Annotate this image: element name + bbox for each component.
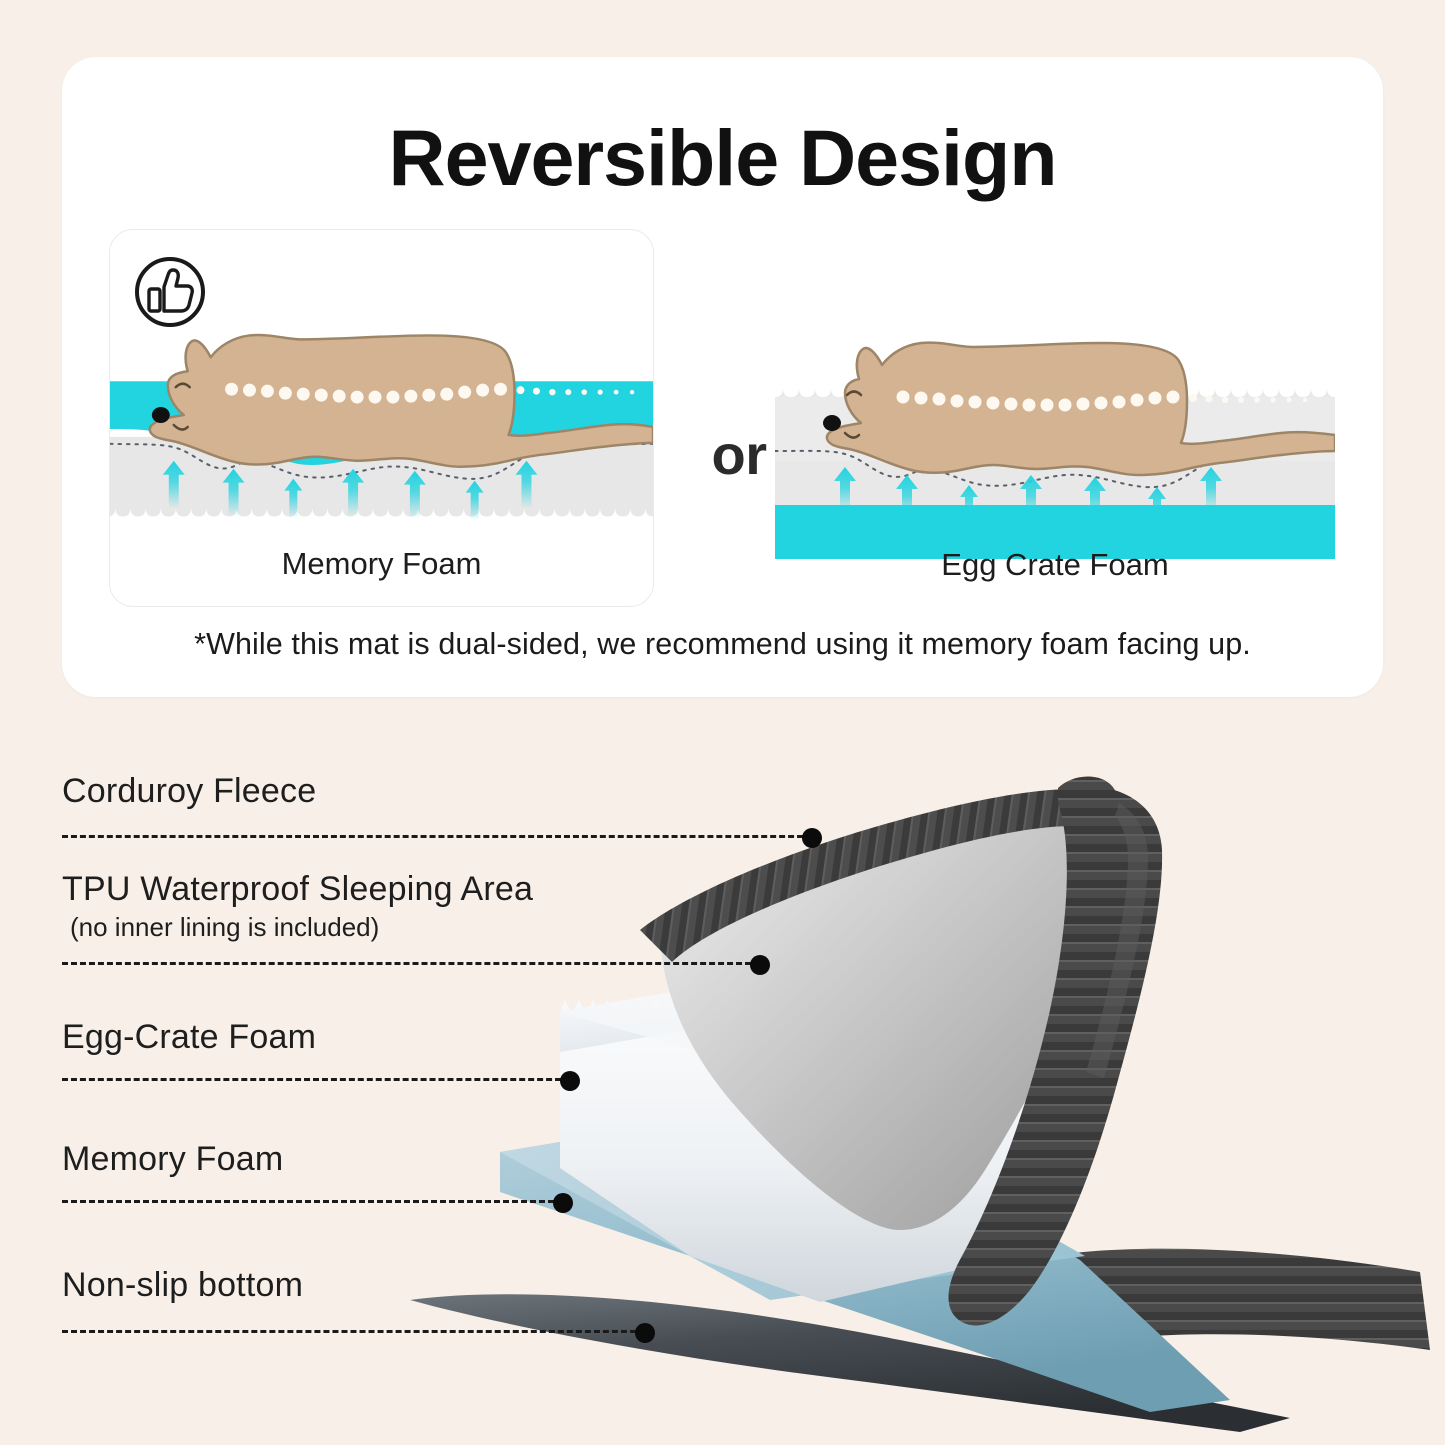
leader-dot <box>750 955 770 975</box>
corduroy-fleece-top-edge <box>640 789 1098 962</box>
leader-line-egg-crate-foam <box>62 1078 570 1081</box>
callout-label: Memory Foam <box>62 1140 283 1179</box>
exploded-mat-illustration <box>0 700 1445 1445</box>
callout-label: Corduroy Fleece <box>62 772 316 811</box>
infographic-root: Reversible Design <box>0 0 1445 1445</box>
egg-crate-serrated-top <box>560 958 860 1052</box>
panel-caption-egg-crate-foam: Egg Crate Foam <box>775 547 1335 583</box>
callout-label: Egg-Crate Foam <box>62 1018 316 1057</box>
tpu-waterproof-sleeping-area <box>660 807 1095 1230</box>
panel-caption-memory-foam: Memory Foam <box>110 546 653 582</box>
callout-memory-foam: Memory Foam <box>62 1140 283 1179</box>
leader-line-memory-foam <box>62 1200 563 1203</box>
egg-crate-foam-layer <box>560 958 1068 1302</box>
memory-foam-layer <box>500 1100 1230 1412</box>
panel-egg-crate-foam: Egg Crate Foam <box>775 229 1335 607</box>
egg-crate-top-face <box>560 958 985 1052</box>
callout-label: TPU Waterproof Sleeping Area <box>62 870 533 909</box>
non-slip-bottom-layer <box>410 1294 1290 1432</box>
fleece-highlight <box>1086 796 1148 1078</box>
leader-line-corduroy-fleece <box>62 835 812 838</box>
reversible-design-card: Reversible Design <box>62 57 1383 697</box>
memory-foam-top-face <box>500 1100 1085 1300</box>
leader-dot <box>802 828 822 848</box>
dog-nose <box>823 415 841 431</box>
callout-tpu-waterproof: TPU Waterproof Sleeping Area (no inner l… <box>62 870 533 943</box>
leader-line-non-slip-bottom <box>62 1330 645 1333</box>
page-title: Reversible Design <box>62 112 1383 204</box>
footnote-text: *While this mat is dual-sided, we recomm… <box>62 627 1383 662</box>
dog-nose <box>152 407 170 423</box>
thumbs-up-icon <box>133 255 207 329</box>
corduroy-fleece-back-panel <box>984 1249 1430 1352</box>
callout-sublabel: (no inner lining is included) <box>62 912 533 943</box>
fleece-corner-nub <box>1058 776 1118 826</box>
leader-line-tpu-waterproof <box>62 962 760 965</box>
panel-memory-foam: Memory Foam <box>109 229 654 607</box>
leader-dot <box>553 1193 573 1213</box>
corduroy-fleece-rolled-edge <box>949 786 1163 1326</box>
callout-corduroy-fleece: Corduroy Fleece <box>62 772 316 811</box>
callout-label: Non-slip bottom <box>62 1266 303 1305</box>
callout-egg-crate-foam: Egg-Crate Foam <box>62 1018 316 1057</box>
callout-non-slip-bottom: Non-slip bottom <box>62 1266 303 1305</box>
leader-dot <box>560 1071 580 1091</box>
layer-construction-diagram: Corduroy Fleece TPU Waterproof Sleeping … <box>0 700 1445 1445</box>
leader-dot <box>635 1323 655 1343</box>
